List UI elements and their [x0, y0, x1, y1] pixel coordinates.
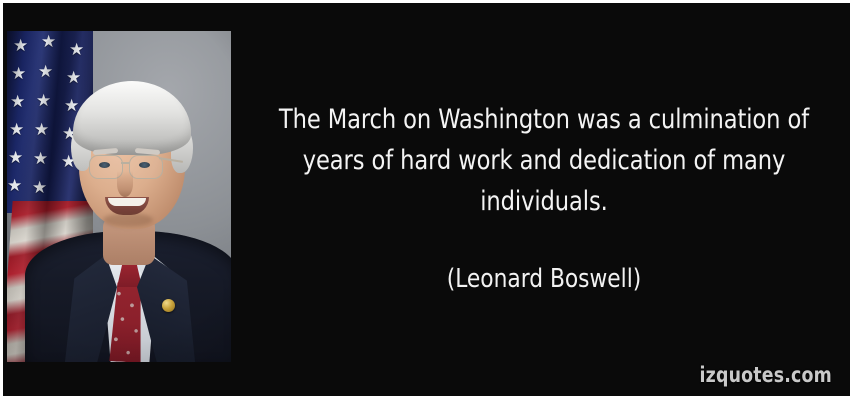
site-watermark: izquotes.com: [700, 363, 832, 387]
nose: [117, 171, 133, 197]
person-figure: [7, 31, 231, 362]
quote-author: (Leonard Boswell): [270, 222, 819, 294]
lapel-pin-icon: [162, 299, 175, 312]
hair: [73, 81, 191, 155]
chin-shadow: [103, 213, 153, 227]
portrait-photo: ★★★★★★★★★★★★★★★★★: [7, 31, 231, 362]
quote-canvas: ★★★★★★★★★★★★★★★★★: [3, 3, 850, 396]
teeth: [108, 198, 146, 206]
quote-card: ★★★★★★★★★★★★★★★★★: [0, 0, 850, 400]
quote-text: The March on Washington was a culminatio…: [270, 99, 819, 222]
quote-block: The March on Washington was a culminatio…: [249, 99, 839, 294]
eyeglasses-bridge: [121, 162, 130, 164]
